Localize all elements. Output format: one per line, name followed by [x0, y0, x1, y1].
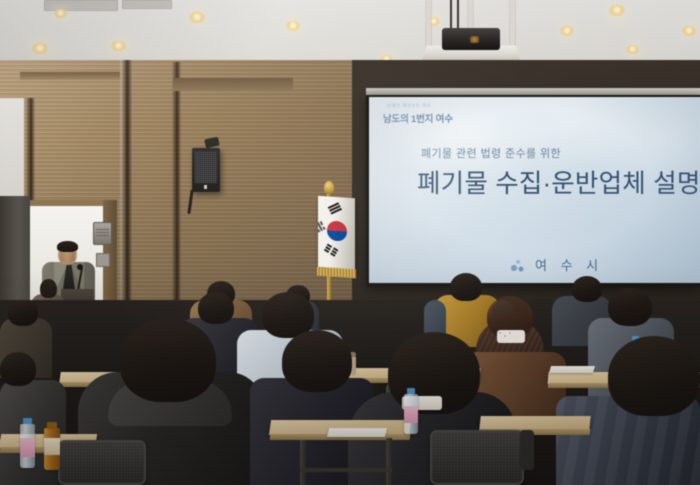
wall-switch-plate[interactable] [96, 253, 110, 267]
flag-finial [324, 181, 334, 194]
attendee-black-hoodie-head [120, 318, 216, 402]
projector-lens [470, 36, 479, 43]
desk-front-right [479, 416, 590, 430]
cage-post [426, 0, 431, 50]
projector-cable [450, 0, 452, 30]
paper-handout[interactable] [327, 428, 387, 437]
presenter-face-shading [60, 252, 75, 263]
desk-leg [300, 440, 306, 485]
seated-attendee-near-door-head [40, 279, 57, 298]
attendee-front-suit-head [282, 330, 352, 392]
wall-panel-label [96, 229, 109, 236]
speaker-led [204, 185, 207, 189]
attendee-navy-puffer-head [608, 336, 700, 416]
presenter-hair [57, 241, 78, 252]
chair[interactable] [430, 430, 524, 485]
desk-leg [386, 438, 392, 485]
attendee-grey-sweater-head [608, 288, 652, 326]
water-bottle[interactable] [20, 418, 35, 468]
white-hair-bow [497, 330, 525, 343]
attendee-mustard-vest-head [450, 273, 482, 301]
desk-rail [300, 468, 392, 472]
paper-handout[interactable] [549, 366, 595, 373]
chair[interactable] [58, 440, 146, 485]
attendee-front-far-left-head [0, 352, 36, 386]
speaker-grille [195, 151, 217, 183]
flag-shading [318, 196, 355, 274]
attendee-dark-suit-head [198, 292, 234, 324]
chair-arm[interactable] [520, 430, 534, 470]
attendee-far-left-head [8, 300, 38, 326]
wall-control-panel[interactable] [93, 222, 112, 245]
cage-post [510, 0, 515, 50]
microphone-head [77, 264, 83, 270]
projection-screen: 남해안 해양수도 여수 남도의 1번지 여수 폐기물 관련 법령 준수를 위한 … [369, 97, 700, 283]
water-bottle[interactable] [404, 388, 418, 434]
brown-beverage-bottle[interactable] [44, 422, 60, 470]
projector-lift-cage [424, 0, 518, 62]
attendee-back-right-head [572, 276, 602, 302]
screen-vignette [369, 97, 700, 283]
wall-mounted-speaker [192, 148, 220, 192]
seminar-room-photo: 남해안 해양수도 여수 남도의 1번지 여수 폐기물 관련 법령 준수를 위한 … [0, 0, 700, 485]
